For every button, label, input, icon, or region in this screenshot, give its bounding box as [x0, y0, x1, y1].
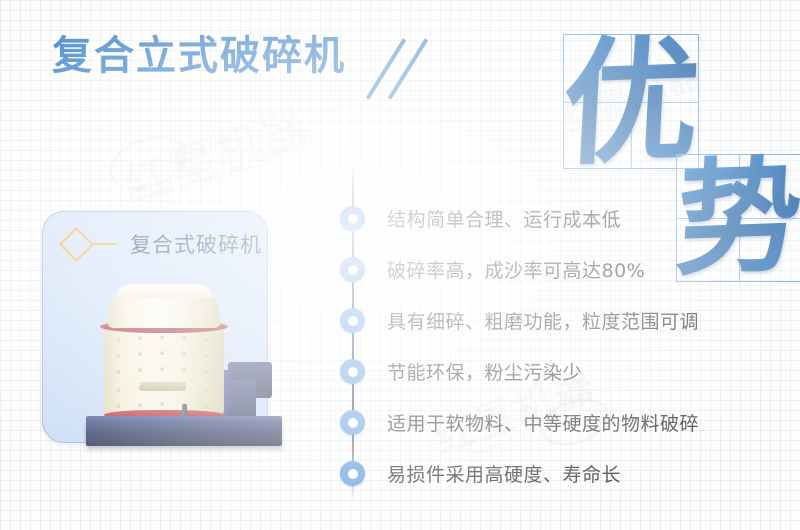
- bullet-dot-icon: [340, 359, 365, 384]
- orange-diamond-icon: [59, 226, 94, 261]
- feature-text: 结构简单合理、运行成本低: [387, 205, 621, 232]
- feature-text: 破碎率高，成沙率可高达80%: [387, 256, 645, 283]
- product-photo-crusher: [78, 284, 288, 456]
- feature-text: 适用于软物料、中等硬度的物料破碎: [387, 409, 699, 436]
- bullet-dot-icon: [340, 206, 365, 231]
- page-title-block: 复合立式破碎机: [52, 36, 346, 76]
- machine-body: [104, 328, 224, 416]
- title-slash-decoration: [368, 32, 440, 104]
- feature-item-1: 结构简单合理、运行成本低: [340, 205, 621, 232]
- machine-hopper-top: [116, 284, 212, 298]
- advantage-char-shi: 势: [670, 149, 800, 287]
- slash-icon-1: [366, 38, 406, 99]
- page-title: 复合立式破碎机: [52, 36, 346, 76]
- bullet-dot-icon: [340, 461, 365, 486]
- advantage-char-box-you: 优: [563, 34, 699, 169]
- advantage-char-box-shi: 势: [676, 154, 800, 282]
- machine-base: [86, 420, 282, 446]
- bullet-dot-icon: [340, 410, 365, 435]
- slash-icon-2: [388, 38, 428, 99]
- diamond-tail-line: [91, 243, 117, 246]
- feature-text: 易损件采用高硬度、寿命长: [387, 460, 621, 487]
- product-name: 复合式破碎机: [130, 229, 262, 259]
- poster-canvas: 红星机器 红星机器 红星机器 HONGXING MACHINERY HONGXI…: [0, 0, 800, 530]
- feature-item-6: 易损件采用高硬度、寿命长: [340, 460, 621, 487]
- product-card-label: 复合式破碎机: [64, 229, 262, 259]
- feature-text: 具有细碎、粗磨功能，粒度范围可调: [387, 307, 699, 334]
- feature-item-5: 适用于软物料、中等硬度的物料破碎: [340, 409, 699, 436]
- feature-text: 节能环保，粉尘污染少: [387, 358, 582, 385]
- feature-item-3: 具有细碎、粗磨功能，粒度范围可调: [340, 307, 699, 334]
- machine-access-plate: [140, 382, 186, 391]
- watermark-seal-1: [102, 126, 194, 200]
- feature-item-4: 节能环保，粉尘污染少: [340, 358, 582, 385]
- watermark-brand-1: 红星机器: [115, 89, 318, 217]
- bullet-dot-icon: [340, 308, 365, 333]
- feature-item-2: 破碎率高，成沙率可高达80%: [340, 256, 645, 283]
- bullet-dot-icon: [340, 257, 365, 282]
- watermark-sub-1: HONGXING MACHINERY: [160, 141, 302, 202]
